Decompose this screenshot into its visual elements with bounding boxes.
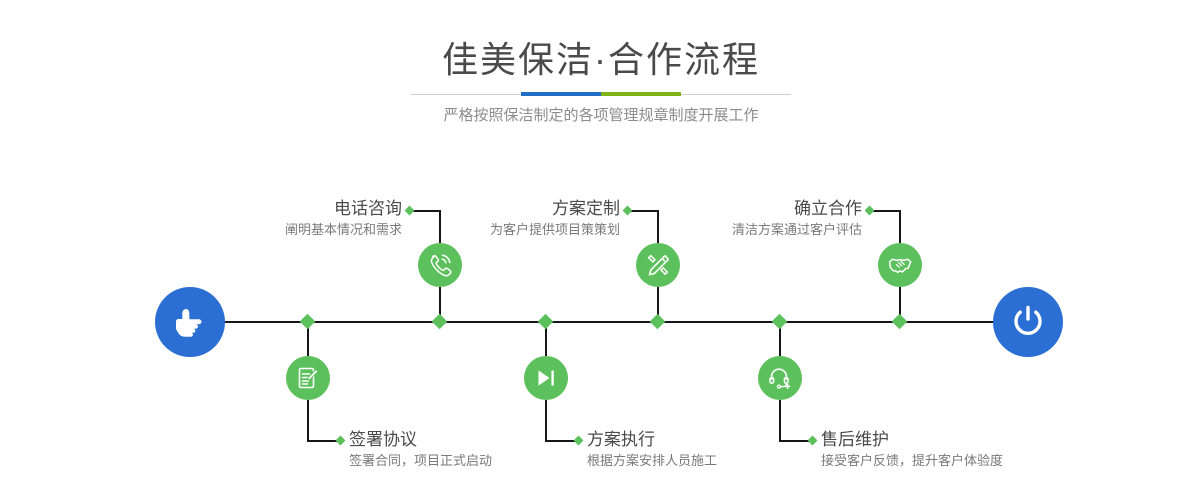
step-dot-2: [336, 436, 346, 446]
step-label-4: 方案执行 根据方案安排人员施工: [587, 429, 717, 471]
step-subtitle-5: 清洁方案通过客户评估: [462, 220, 862, 240]
step-title-5: 确立合作: [462, 198, 862, 220]
step-marker-4: [538, 314, 554, 330]
page-subtitle: 严格按照保洁制定的各项管理规章制度开展工作: [0, 105, 1202, 127]
step-marker-1: [432, 314, 448, 330]
pointing-hand-icon: [172, 304, 208, 340]
document-edit-icon: [295, 365, 321, 391]
flow-diagram-page: 佳美保洁·合作流程 严格按照保洁制定的各项管理规章制度开展工作: [0, 0, 1202, 502]
step-icon-6[interactable]: [758, 356, 802, 400]
phone-call-icon: [427, 252, 453, 278]
step-subtitle-6: 接受客户反馈，提升客户体验度: [821, 451, 1003, 471]
process-timeline: 电话咨询 阐明基本情况和需求 签署协议 签署合同，项目正式启动: [0, 150, 1202, 502]
page-header: 佳美保洁·合作流程 严格按照保洁制定的各项管理规章制度开展工作: [0, 0, 1202, 150]
step-icon-4[interactable]: [524, 356, 568, 400]
title-divider-blue-segment: [521, 92, 601, 96]
step-title-6: 售后维护: [821, 429, 1003, 451]
page-title: 佳美保洁·合作流程: [0, 38, 1202, 82]
step-elbow-v-4: [545, 400, 547, 441]
step-marker-6: [772, 314, 788, 330]
step-elbow-h-2: [307, 440, 339, 442]
step-elbow-v-5: [899, 210, 901, 243]
step-title-2: 签署协议: [349, 429, 492, 451]
power-icon: [1009, 303, 1047, 341]
step-subtitle-4: 根据方案安排人员施工: [587, 451, 717, 471]
step-title-4: 方案执行: [587, 429, 717, 451]
step-elbow-v-6: [779, 400, 781, 441]
step-marker-5: [892, 314, 908, 330]
step-icon-3[interactable]: [636, 243, 680, 287]
title-divider-green-segment: [601, 92, 681, 96]
pencil-ruler-icon: [645, 252, 671, 278]
handshake-icon: [887, 252, 913, 278]
step-elbow-v-2: [307, 400, 309, 441]
step-elbow-h-4: [545, 440, 577, 442]
step-icon-1[interactable]: [418, 243, 462, 287]
step-dot-4: [574, 436, 584, 446]
timeline-end-node[interactable]: [993, 287, 1063, 357]
step-dot-6: [808, 436, 818, 446]
step-dot-5: [865, 206, 875, 216]
step-label-2: 签署协议 签署合同，项目正式启动: [349, 429, 492, 471]
step-icon-5[interactable]: [878, 243, 922, 287]
step-marker-3: [650, 314, 666, 330]
headset-support-icon: [767, 365, 793, 391]
step-label-5: 确立合作 清洁方案通过客户评估: [462, 198, 862, 240]
step-label-6: 售后维护 接受客户反馈，提升客户体验度: [821, 429, 1003, 471]
step-elbow-h-6: [779, 440, 811, 442]
step-icon-2[interactable]: [286, 356, 330, 400]
timeline-start-node[interactable]: [155, 287, 225, 357]
play-skip-icon: [533, 365, 559, 391]
step-marker-2: [300, 314, 316, 330]
step-subtitle-2: 签署合同，项目正式启动: [349, 451, 492, 471]
